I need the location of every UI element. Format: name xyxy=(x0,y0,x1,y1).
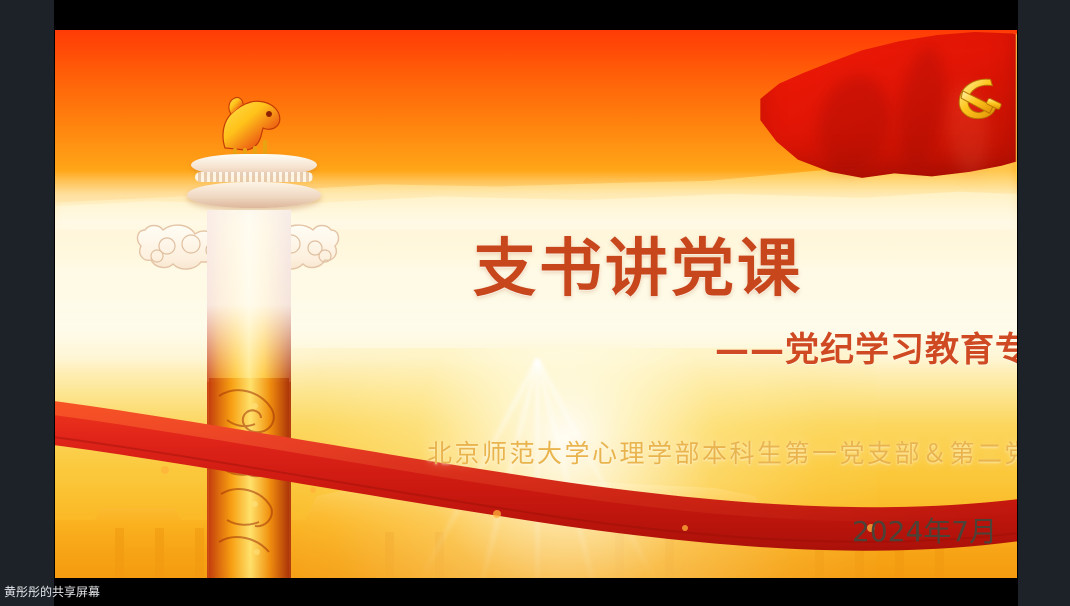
slide-text-block: 支书讲党课 ——党纪学习教育专题 北京师范大学心理学部本科生第一党支部＆第二党支… xyxy=(55,30,1017,578)
slide-title: 支书讲党课 xyxy=(473,218,803,309)
left-gutter xyxy=(0,0,54,606)
share-screen-label: 黄彤彤的共享屏幕 xyxy=(4,585,100,600)
presentation-slide[interactable]: 支书讲党课 ——党纪学习教育专题 北京师范大学心理学部本科生第一党支部＆第二党支… xyxy=(55,30,1017,578)
shared-screen-view: 支书讲党课 ——党纪学习教育专题 北京师范大学心理学部本科生第一党支部＆第二党支… xyxy=(0,0,1070,606)
slide-subtitle: ——党纪学习教育专题 xyxy=(715,322,1017,371)
right-gutter xyxy=(1018,0,1070,606)
slide-organization: 北京师范大学心理学部本科生第一党支部＆第二党支部 xyxy=(427,434,1017,470)
slide-date: 2024年7月 xyxy=(852,510,997,550)
